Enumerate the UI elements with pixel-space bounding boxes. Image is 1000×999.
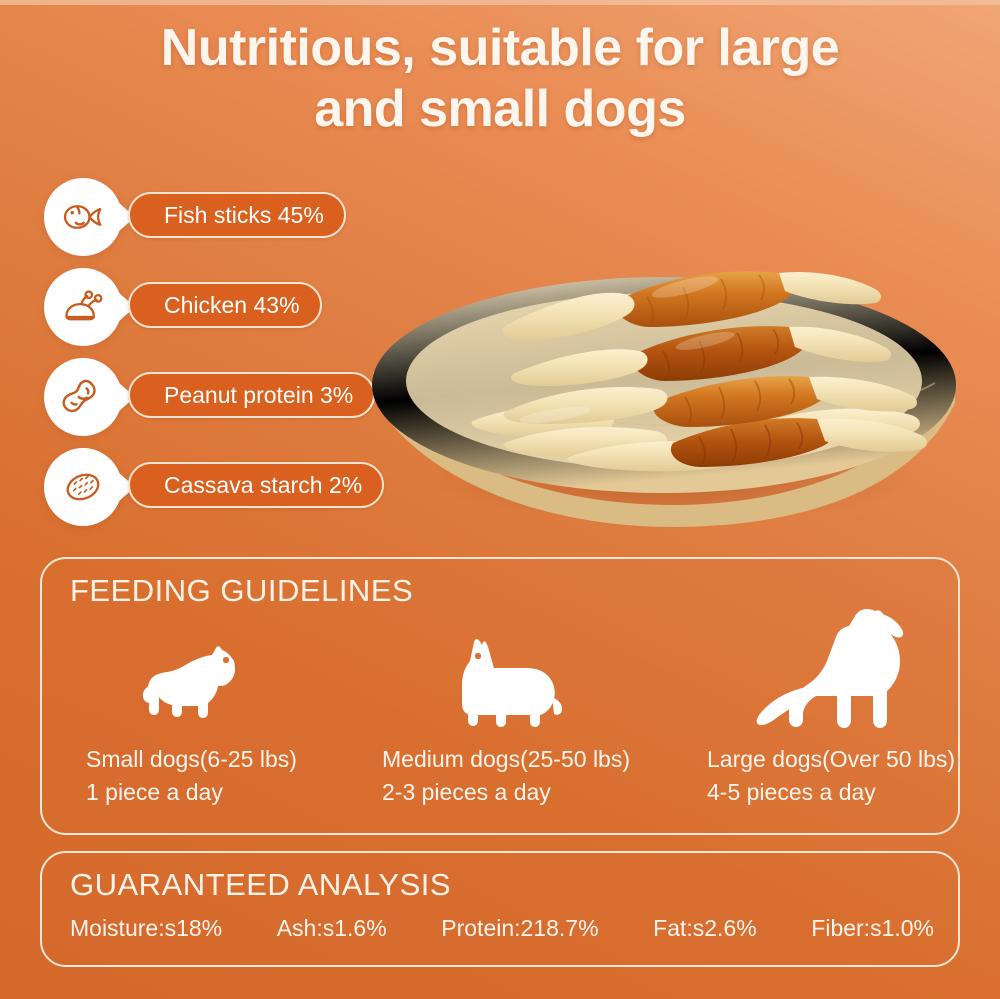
small-dog-icon-wrap bbox=[64, 619, 364, 729]
ingredient-label: Cassava starch 2% bbox=[164, 472, 362, 499]
infographic-page: Nutritious, suitable for large and small… bbox=[0, 0, 1000, 999]
large-dog-icon bbox=[749, 607, 925, 729]
peanut-icon bbox=[60, 374, 106, 420]
ingredient-pill-cassava[interactable]: Cassava starch 2% bbox=[128, 462, 384, 508]
feeding-size-line: Small dogs(6-25 lbs) bbox=[86, 743, 364, 776]
ingredient-pill-peanut[interactable]: Peanut protein 3% bbox=[128, 372, 375, 418]
ingredient-row-peanut: Peanut protein 3% bbox=[44, 352, 374, 442]
feeding-guidelines-card: FEEDING GUIDELINES Small dogs(6-25 lbs) … bbox=[40, 557, 960, 835]
ingredient-label: Chicken 43% bbox=[164, 292, 300, 319]
analysis-value-moisture: Moisture:s18% bbox=[70, 915, 222, 942]
ingredient-row-cassava: Cassava starch 2% bbox=[44, 442, 374, 532]
cassava-icon bbox=[60, 464, 106, 510]
feeding-size-line: Large dogs(Over 50 lbs) bbox=[707, 743, 987, 776]
analysis-value-fat: Fat:s2.6% bbox=[653, 915, 757, 942]
feeding-amount-line: 1 piece a day bbox=[86, 776, 364, 809]
analysis-value-protein: Protein:218.7% bbox=[441, 915, 598, 942]
cassava-icon-bubble bbox=[44, 448, 122, 526]
medium-dog-icon bbox=[452, 637, 570, 729]
feeding-text-large: Large dogs(Over 50 lbs) 4-5 pieces a day bbox=[687, 743, 987, 808]
feeding-amount-line: 2-3 pieces a day bbox=[382, 776, 684, 809]
title-line-2: and small dogs bbox=[0, 79, 1000, 140]
large-dog-icon-wrap bbox=[687, 619, 987, 729]
medium-dog-icon-wrap bbox=[364, 619, 684, 729]
page-title: Nutritious, suitable for large and small… bbox=[0, 18, 1000, 141]
ingredient-pill-chicken[interactable]: Chicken 43% bbox=[128, 282, 322, 328]
peanut-icon-bubble bbox=[44, 358, 122, 436]
feeding-size-line: Medium dogs(25-50 lbs) bbox=[382, 743, 684, 776]
feeding-text-small: Small dogs(6-25 lbs) 1 piece a day bbox=[64, 743, 364, 808]
ingredient-row-chicken: Chicken 43% bbox=[44, 262, 374, 352]
guaranteed-analysis-card: GUARANTEED ANALYSIS Moisture:s18% Ash:s1… bbox=[40, 851, 960, 967]
small-dog-icon bbox=[142, 645, 250, 729]
feeding-amount-line: 4-5 pieces a day bbox=[707, 776, 987, 809]
feeding-column-medium: Medium dogs(25-50 lbs) 2-3 pieces a day bbox=[364, 619, 684, 808]
ingredient-list: Fish sticks 45% Chicken 43% bbox=[44, 172, 374, 532]
ingredient-pill-fish[interactable]: Fish sticks 45% bbox=[128, 192, 346, 238]
title-line-1: Nutritious, suitable for large bbox=[161, 19, 839, 77]
guaranteed-analysis-title: GUARANTEED ANALYSIS bbox=[70, 867, 451, 903]
chicken-icon bbox=[60, 284, 106, 330]
feeding-guidelines-title: FEEDING GUIDELINES bbox=[70, 573, 413, 609]
top-edge-strip bbox=[0, 0, 1000, 5]
ingredient-row-fish: Fish sticks 45% bbox=[44, 172, 374, 262]
ingredient-label: Fish sticks 45% bbox=[164, 202, 324, 229]
ingredient-label: Peanut protein 3% bbox=[164, 382, 353, 409]
feeding-column-large: Large dogs(Over 50 lbs) 4-5 pieces a day bbox=[687, 619, 987, 808]
product-photo bbox=[355, 175, 980, 530]
feeding-text-medium: Medium dogs(25-50 lbs) 2-3 pieces a day bbox=[364, 743, 684, 808]
analysis-values-row: Moisture:s18% Ash:s1.6% Protein:218.7% F… bbox=[70, 915, 934, 942]
fish-icon bbox=[60, 194, 106, 240]
feeding-column-small: Small dogs(6-25 lbs) 1 piece a day bbox=[64, 619, 364, 808]
chicken-icon-bubble bbox=[44, 268, 122, 346]
analysis-value-fiber: Fiber:s1.0% bbox=[811, 915, 934, 942]
analysis-value-ash: Ash:s1.6% bbox=[277, 915, 387, 942]
fish-icon-bubble bbox=[44, 178, 122, 256]
